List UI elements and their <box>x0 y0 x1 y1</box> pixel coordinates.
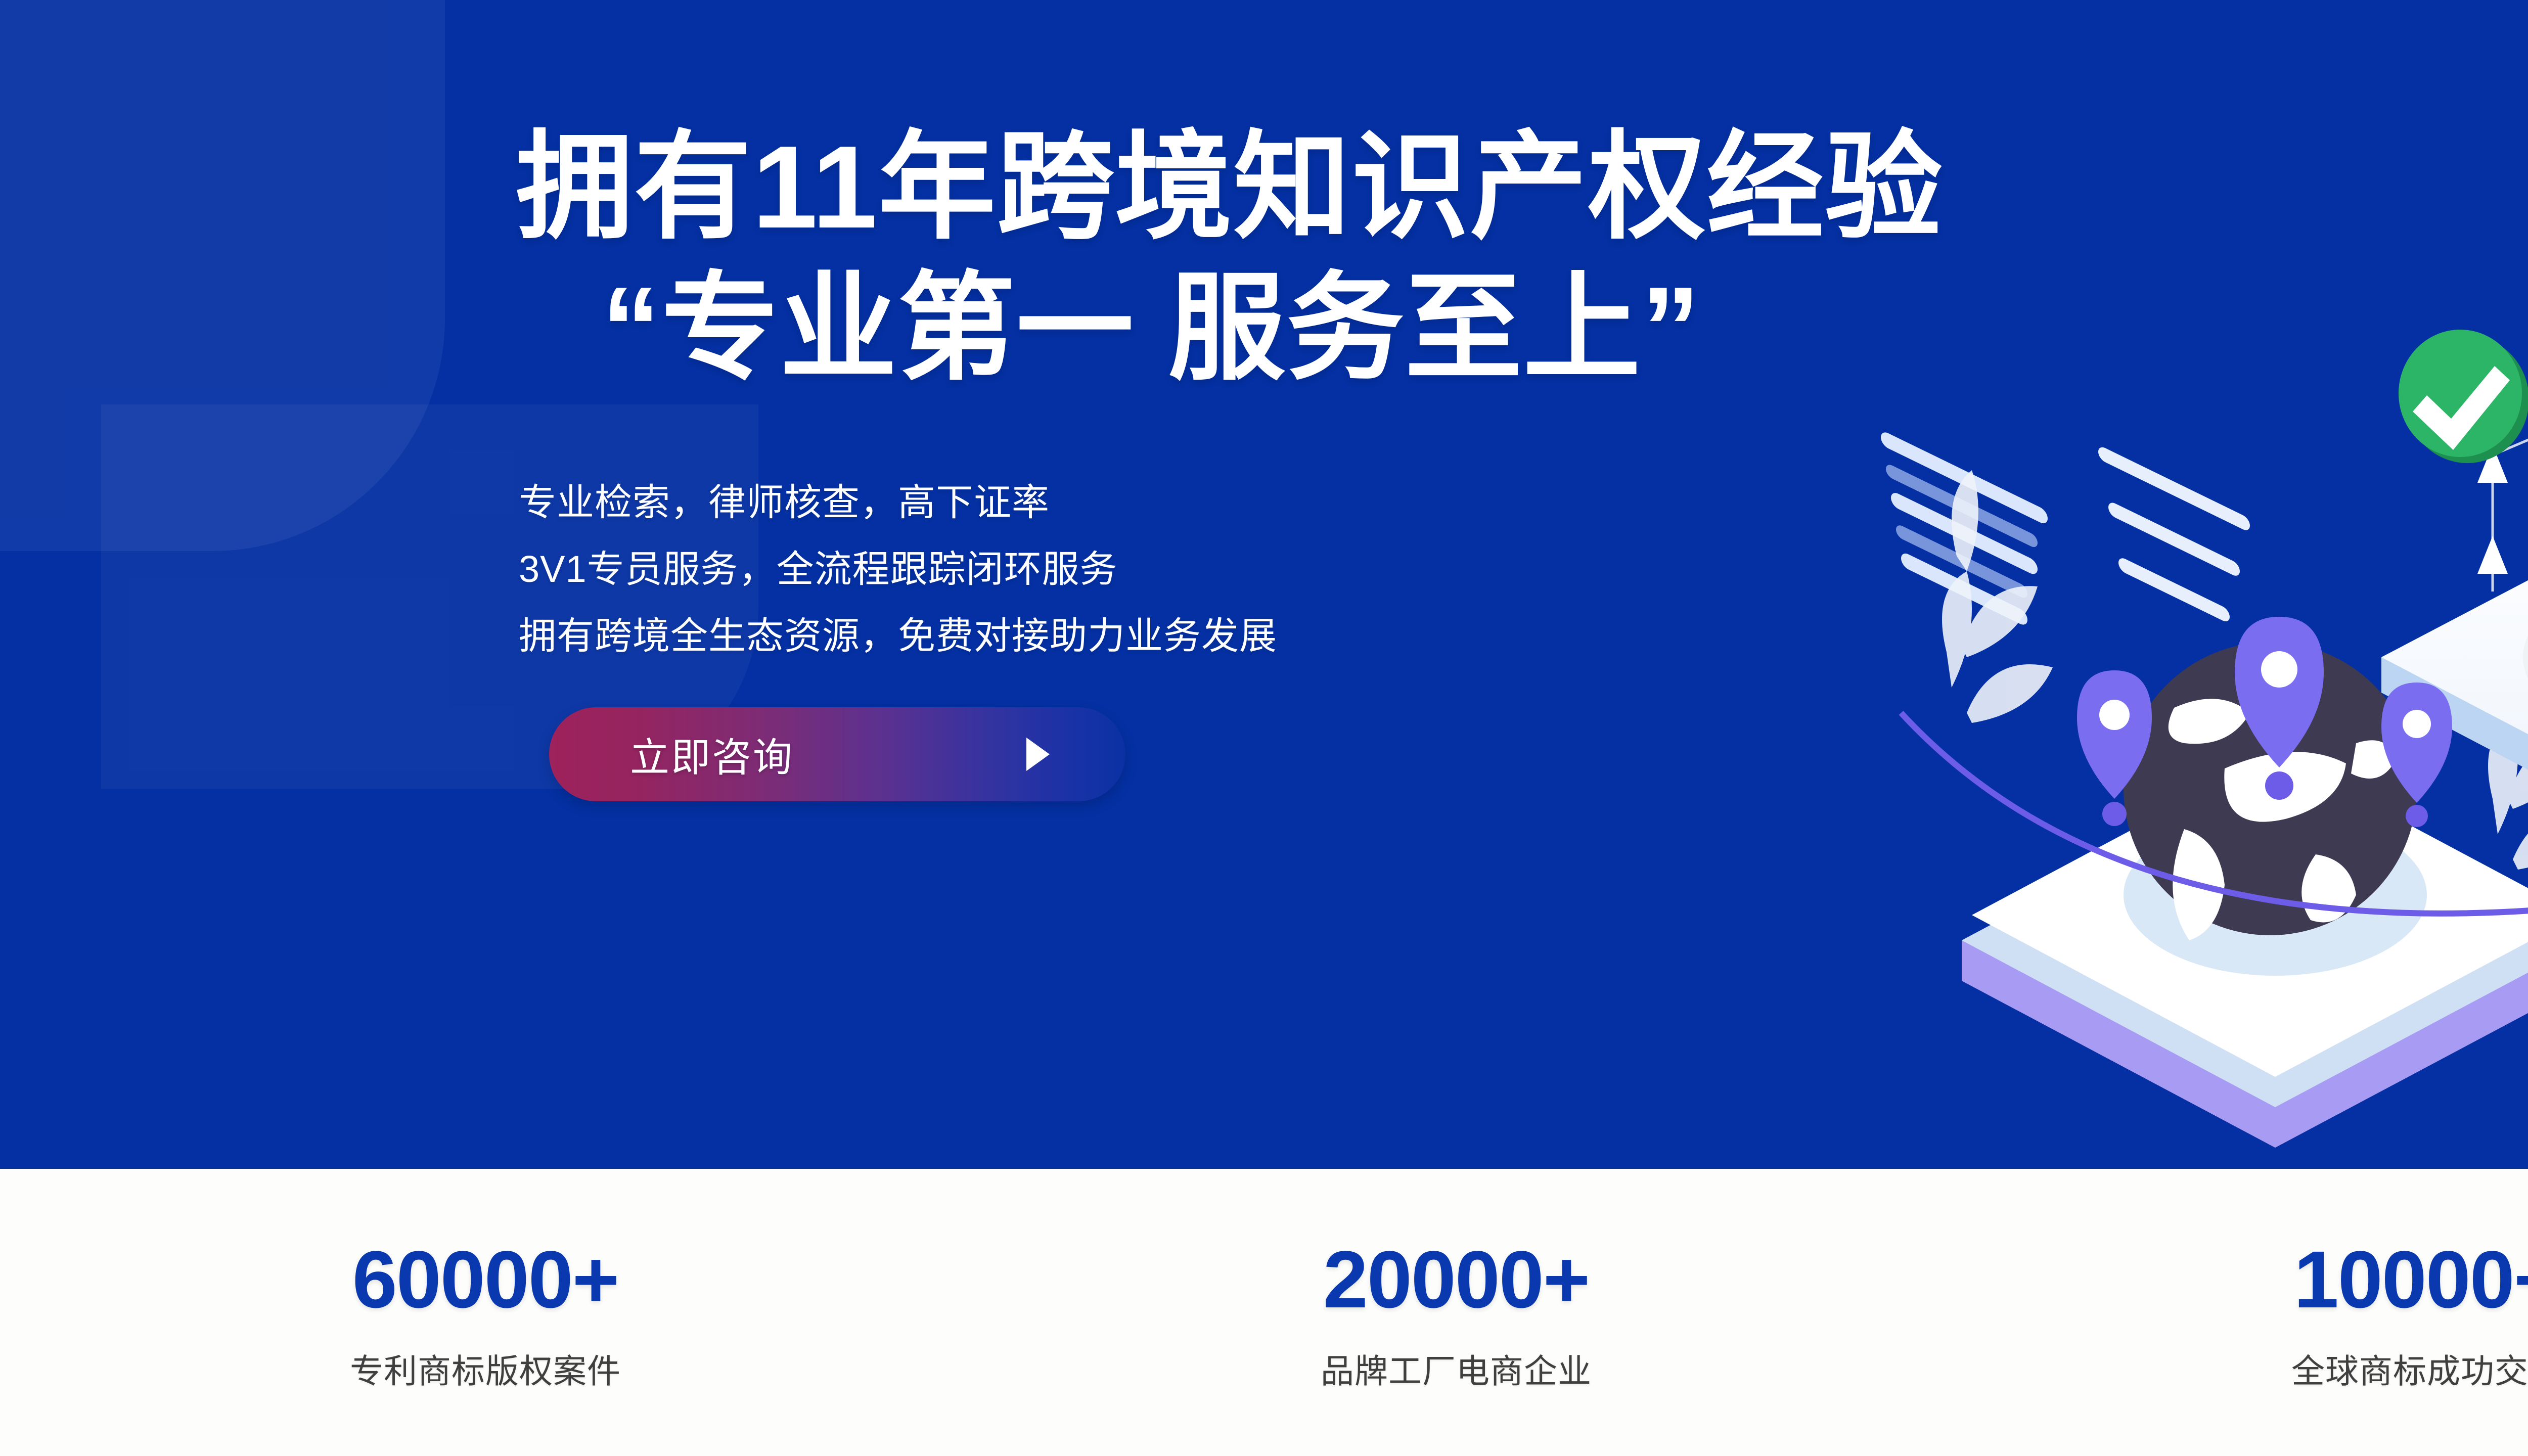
stat-value-2: 20000+ <box>1323 1239 1589 1320</box>
banner-page: 拥有11年跨境知识产权经验 “专业第一 服务至上” 专业检索，律师核查，高下证率… <box>0 0 2528 1456</box>
play-arrow-icon <box>1026 738 1050 771</box>
stat-value-1: 60000+ <box>352 1239 618 1320</box>
hero-section: 拥有11年跨境知识产权经验 “专业第一 服务至上” 专业检索，律师核查，高下证率… <box>0 0 2528 1169</box>
stat-item-3: 10000+ 全球商标成功交易 <box>1942 1169 2528 1456</box>
consult-now-label: 立即咨询 <box>630 726 794 783</box>
stat-label-3: 全球商标成功交易 <box>2291 1344 2528 1393</box>
consult-now-button[interactable]: 立即咨询 <box>549 707 1125 801</box>
stat-item-2: 20000+ 品牌工厂电商企业 <box>971 1169 1942 1456</box>
stat-value-3: 10000+ <box>2294 1239 2528 1320</box>
stats-bar: 60000+ 专利商标版权案件 20000+ 品牌工厂电商企业 10000+ 全… <box>0 1169 2528 1456</box>
check-mark-badge-icon <box>2399 330 2528 463</box>
stat-label-1: 专利商标版权案件 <box>350 1344 621 1393</box>
isometric-ip-services-illustration: R <box>1871 0 2528 1169</box>
stat-label-2: 品牌工厂电商企业 <box>1321 1344 1592 1393</box>
stat-item-1: 60000+ 专利商标版权案件 <box>0 1169 971 1456</box>
